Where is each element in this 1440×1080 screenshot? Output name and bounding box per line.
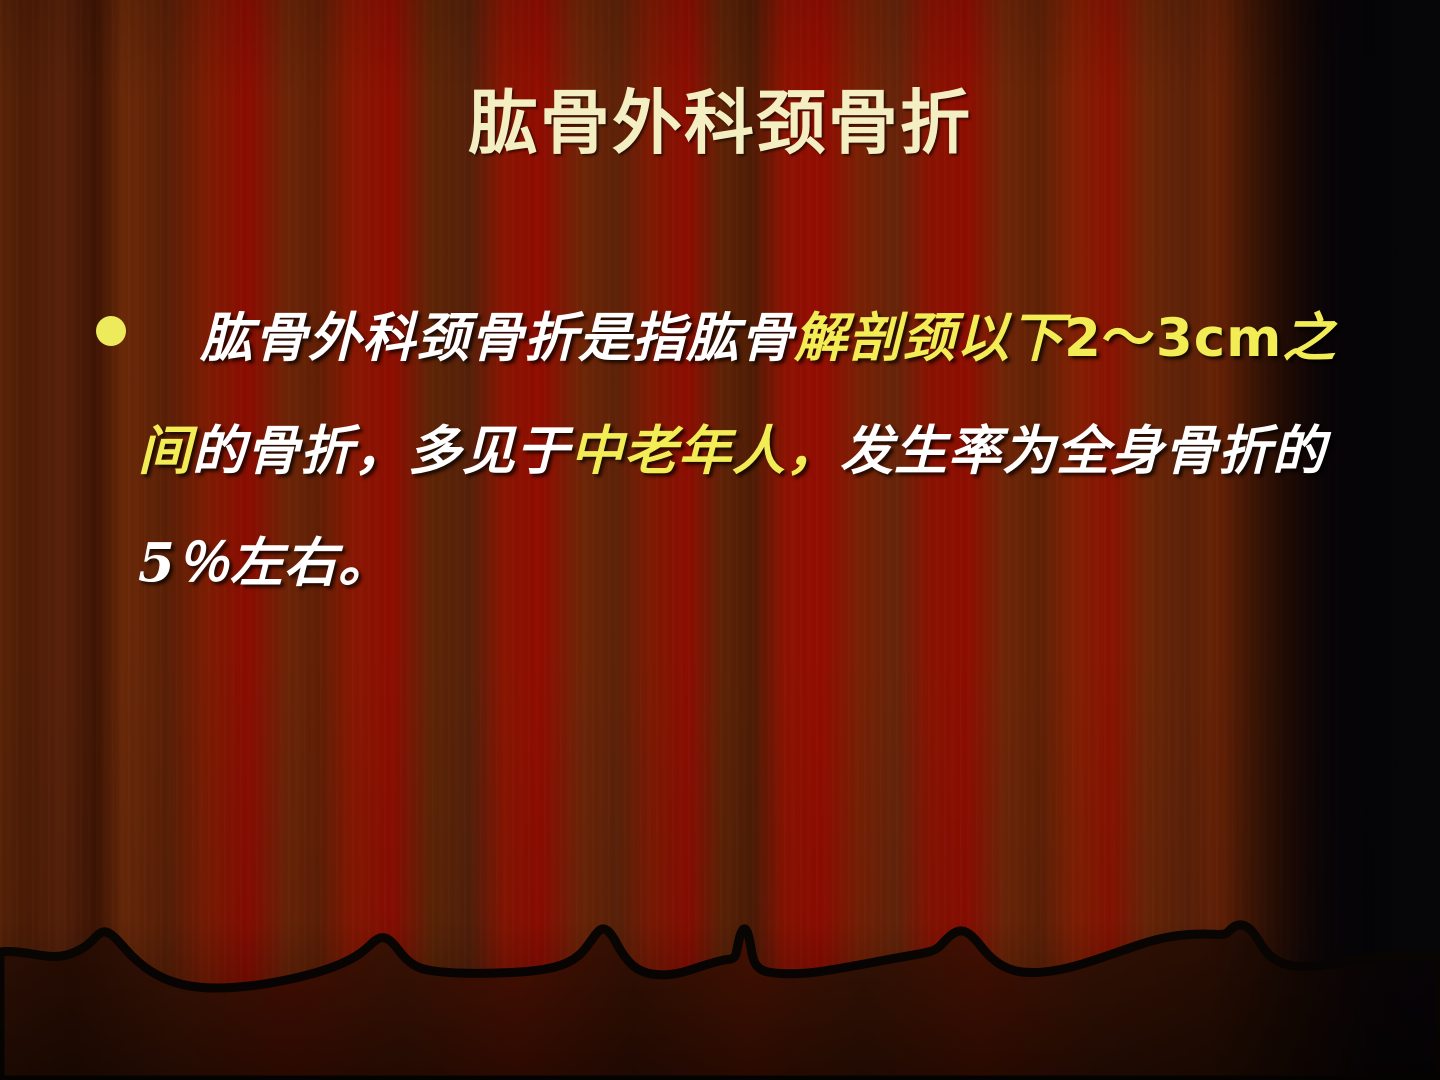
presentation-slide: 肱骨外科颈骨折 肱骨外科颈骨折是指肱骨解剖颈以下2～3cm之间的骨折，多见于中老… (0, 0, 1440, 1080)
text-segment-5: 的骨折，多见于 (192, 420, 570, 482)
text-segment-2-highlight: 2～3 (1064, 308, 1194, 369)
slide-title: 肱骨外科颈骨折 (0, 86, 1440, 160)
ground-shade-overlay (0, 920, 1440, 1080)
text-segment-0: 肱骨外科颈骨折是指肱骨 (200, 307, 794, 369)
text-segment-7: 发生率为全身骨折的 (840, 420, 1326, 482)
bullet-paragraph: 肱骨外科颈骨折是指肱骨解剖颈以下2～3cm之间的骨折，多见于中老年人，发生率为全… (96, 282, 1356, 619)
text-segment-1-highlight: 解剖颈以下 (794, 307, 1064, 369)
text-segment-8: 5％ (138, 532, 230, 594)
text-segment-3-highlight: cm (1194, 308, 1283, 369)
text-segment-9: 左右。 (230, 532, 392, 594)
body-paragraph-text: 肱骨外科颈骨折是指肱骨解剖颈以下2～3cm之间的骨折，多见于中老年人，发生率为全… (138, 282, 1356, 619)
bottom-ground-band (0, 920, 1440, 1080)
text-segment-6-highlight: 中老年人， (570, 420, 840, 482)
bullet-dot-icon (96, 316, 126, 346)
